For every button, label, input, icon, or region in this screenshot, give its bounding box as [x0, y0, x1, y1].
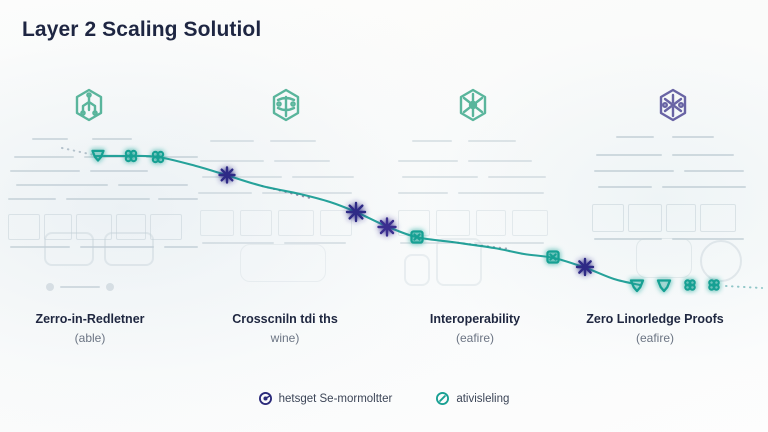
category-label-2: Crosscniln tdi ths wine) — [190, 312, 380, 347]
category-sub: wine) — [190, 330, 380, 347]
category-name: Zero Linorledge Proofs — [560, 312, 750, 327]
legend-label: ativisleling — [456, 393, 509, 405]
circle-target-icon — [259, 392, 272, 405]
chart-legend: hetsget Se-mormoltter ativisleling — [0, 392, 768, 405]
category-name: Crosscniln tdi ths — [190, 312, 380, 327]
category-label-4: Zero Linorledge Proofs (eafire) — [560, 312, 750, 347]
category-name: Interoperability — [380, 312, 570, 327]
trend-line-chart — [0, 0, 768, 432]
legend-label: hetsget Se-mormoltter — [279, 393, 393, 405]
category-sub: (eafire) — [380, 330, 570, 347]
category-name: Zerro-in-Redletner — [0, 312, 185, 327]
category-label-3: Interoperability (eafire) — [380, 312, 570, 347]
chart-dotted-segments — [62, 148, 762, 288]
chart-line-series — [96, 156, 640, 285]
legend-item-1[interactable]: hetsget Se-mormoltter — [259, 392, 393, 405]
chart-markers — [93, 151, 719, 291]
infographic-canvas: Layer 2 Scaling Solutiol — [0, 0, 768, 432]
category-sub: (able) — [0, 330, 185, 347]
category-sub: (eafire) — [560, 330, 750, 347]
legend-item-2[interactable]: ativisleling — [436, 392, 509, 405]
category-label-1: Zerro-in-Redletner (able) — [0, 312, 185, 347]
circle-slash-icon — [436, 392, 449, 405]
